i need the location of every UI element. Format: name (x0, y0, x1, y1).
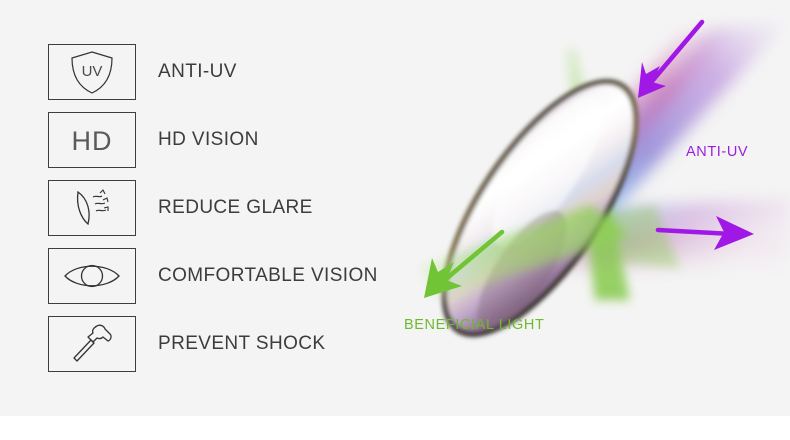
eye-icon (48, 248, 136, 304)
feature-label-reduce-glare: REDUCE GLARE (158, 197, 313, 219)
infographic-canvas: UV ANTI-UV HD HD VISION (0, 0, 790, 440)
feature-label-comfortable-vision: COMFORTABLE VISION (158, 265, 378, 287)
feature-label-prevent-shock: PREVENT SHOCK (158, 333, 325, 355)
caption-anti-uv: ANTI-UV (686, 144, 748, 160)
feature-row-hd-vision: HD HD VISION (48, 112, 408, 168)
hd-letters-icon: HD (48, 112, 136, 168)
feature-list: UV ANTI-UV HD HD VISION (48, 44, 408, 384)
hammer-icon (48, 316, 136, 372)
feature-row-prevent-shock: PREVENT SHOCK (48, 316, 408, 372)
uv-shield-icon: UV (48, 44, 136, 100)
feature-row-anti-uv: UV ANTI-UV (48, 44, 408, 100)
glare-deflect-icon (48, 180, 136, 236)
svg-text:UV: UV (82, 63, 103, 80)
feature-label-anti-uv: ANTI-UV (158, 61, 237, 83)
lens-illustration (380, 0, 790, 416)
svg-text:HD: HD (72, 126, 113, 156)
feature-row-comfortable-vision: COMFORTABLE VISION (48, 248, 408, 304)
caption-beneficial-light: BENEFICIAL LIGHT (404, 317, 544, 333)
feature-row-reduce-glare: REDUCE GLARE (48, 180, 408, 236)
feature-label-hd-vision: HD VISION (158, 129, 259, 151)
